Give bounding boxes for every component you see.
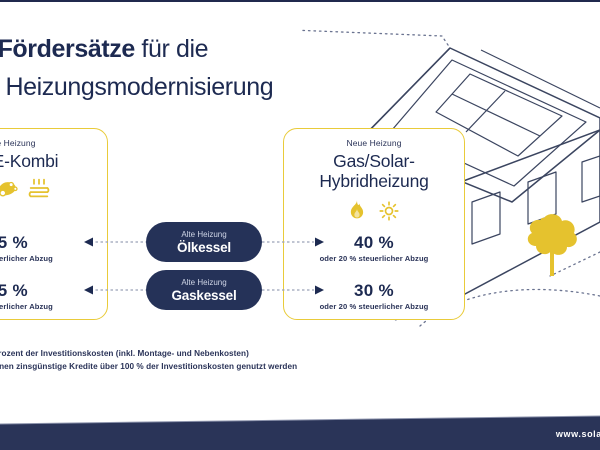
footnote: ze in Prozent der Investitionskosten (in… xyxy=(0,348,392,373)
right-rate-note-2: oder 20 % steuerlicher Abzug xyxy=(284,302,464,311)
pill-old-heating-gas: Alte Heizung Gaskessel xyxy=(146,270,262,310)
right-panel-title-line-2: Hybridheizung xyxy=(319,171,428,191)
pill-oil-eyebrow: Alte Heizung xyxy=(181,230,226,240)
left-panel-eyebrow: Neue Heizung xyxy=(0,138,107,148)
pill-old-heating-oil: Alte Heizung Ölkessel xyxy=(146,222,262,262)
infographic-canvas: ue Fördersätze für die are Heizungsmoder… xyxy=(0,0,600,450)
title-line-1-bold: Fördersätze xyxy=(0,35,135,63)
flame-icon xyxy=(349,200,365,221)
right-panel-title-line-1: Gas/Solar- xyxy=(333,151,415,171)
right-panel-eyebrow: Neue Heizung xyxy=(284,138,464,148)
connector-oil-to-right xyxy=(262,237,324,247)
connector-gas-to-right xyxy=(262,285,324,295)
title-line-2: are Heizungsmodernisierung xyxy=(0,68,394,106)
footer-website-url[interactable]: www.solar xyxy=(556,429,600,439)
page-title: ue Fördersätze für die are Heizungsmoder… xyxy=(0,30,394,106)
left-panel-title: lar/EE-Kombi xyxy=(0,151,107,171)
left-rate-note-1: 20 % steuerlicher Abzug xyxy=(0,254,107,263)
heat-pump-icon xyxy=(28,178,50,198)
right-panel-title: Gas/Solar- Hybridheizung xyxy=(284,151,464,191)
pill-oil-title: Ölkessel xyxy=(177,240,231,255)
pill-gas-title: Gaskessel xyxy=(171,288,236,303)
footnote-line-1: ze in Prozent der Investitionskosten (in… xyxy=(0,348,392,361)
left-rate-note-2: 20 % steuerlicher Abzug xyxy=(0,302,107,311)
pellet-boiler-icon xyxy=(0,178,19,198)
connector-oil-to-left xyxy=(84,237,150,247)
pill-gas-eyebrow: Alte Heizung xyxy=(181,278,226,288)
connector-gas-to-left xyxy=(84,285,150,295)
right-rate-note-1: oder 20 % steuerlicher Abzug xyxy=(284,254,464,263)
title-line-1-rest: für die xyxy=(135,35,208,63)
footer-band: www.solar xyxy=(0,410,600,450)
right-panel-icon-row xyxy=(284,200,464,221)
left-panel-icon-row xyxy=(0,178,107,198)
sun-icon xyxy=(379,201,399,221)
footnote-line-2: nd können zinsgünstige Kredite über 100 … xyxy=(0,361,392,374)
